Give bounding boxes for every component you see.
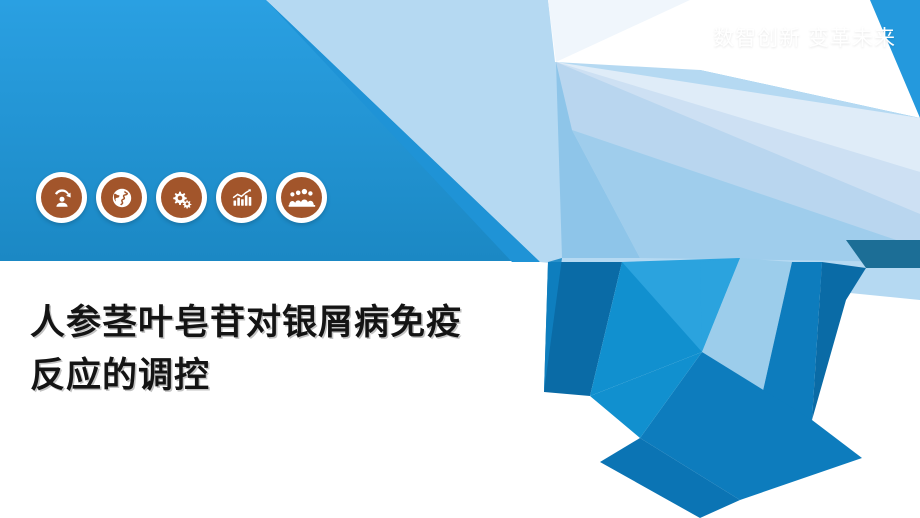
globe-icon [101, 177, 142, 218]
icon-badge-3[interactable] [156, 172, 207, 223]
people-group-icon [281, 177, 322, 218]
title-line-1: 人参茎叶皂苷对银屑病免疫 [30, 296, 550, 349]
icon-badge-4[interactable] [216, 172, 267, 223]
icon-badge-5[interactable] [276, 172, 327, 223]
title-line-2: 反应的调控 [30, 349, 550, 402]
background-artwork [0, 0, 920, 518]
icon-badge-1[interactable] [36, 172, 87, 223]
tagline-text: 数智创新 变革未来 [713, 26, 896, 51]
refresh-people-icon [41, 177, 82, 218]
bar-chart-icon [221, 177, 262, 218]
page-title: 人参茎叶皂苷对银屑病免疫 反应的调控 [30, 296, 550, 402]
icon-row [36, 172, 327, 223]
gears-icon [161, 177, 202, 218]
slide-canvas: 数智创新 变革未来 [0, 0, 920, 518]
icon-badge-2[interactable] [96, 172, 147, 223]
